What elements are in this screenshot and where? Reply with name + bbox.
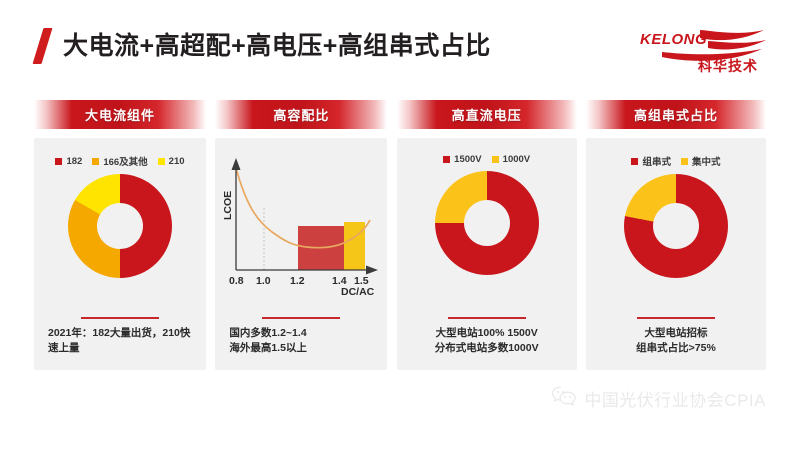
panel-ribbon-label: 高直流电压 <box>452 105 522 124</box>
panel-card: 1500V 1000V 大型电站100% 1500V 分布式电站多数1000V <box>397 138 577 370</box>
panel-ribbon: 高直流电压 <box>397 100 577 129</box>
legend-label: 1500V <box>454 154 481 165</box>
legend-item: 组串式 <box>631 154 671 168</box>
donut-chart <box>68 174 172 278</box>
panel-caption-block: 大型电站100% 1500V 分布式电站多数1000V <box>397 317 577 356</box>
page-title-text: 大电流+高超配+高电压+高组串式占比 <box>63 34 491 59</box>
panel-card: 182 166及其他 210 2021年：182大量出货，210快速上量 <box>34 138 206 370</box>
donut-chart-wrap <box>34 174 206 278</box>
legend-label: 166及其他 <box>103 154 147 168</box>
y-axis-label: LCOE <box>222 191 234 220</box>
legend-item: 166及其他 <box>92 154 147 168</box>
donut-chart <box>435 171 539 275</box>
legend-swatch-icon <box>492 156 499 163</box>
caption-divider <box>262 317 340 319</box>
legend-swatch-icon <box>55 158 62 165</box>
legend-label: 组串式 <box>642 154 671 168</box>
panel-caption: 2021年：182大量出货，210快速上量 <box>34 326 206 356</box>
legend-label: 210 <box>169 156 185 167</box>
panel-high-dc-ac-ratio[interactable]: 高容配比 LCOE <box>215 100 387 378</box>
svg-text:KELONG: KELONG <box>640 31 707 48</box>
x-tick-label: 1.0 <box>256 275 271 287</box>
legend-item: 1500V <box>443 154 481 165</box>
legend-item: 1000V <box>492 154 530 165</box>
panel-caption-block: 大型电站招标 组串式占比>75% <box>586 317 766 356</box>
legend-swatch-icon <box>92 158 99 165</box>
panel-ribbon-label: 大电流组件 <box>85 105 155 124</box>
donut-hole <box>653 203 699 249</box>
panel-ribbon: 高组串式占比 <box>586 100 766 129</box>
legend-swatch-icon <box>443 156 450 163</box>
legend-item: 182 <box>55 156 82 167</box>
panel-caption-block: 国内多数1.2~1.4 海外最高1.5以上 <box>215 317 387 356</box>
donut-chart-wrap <box>397 171 577 275</box>
panel-caption-block: 2021年：182大量出货，210快速上量 <box>34 317 206 356</box>
page-header: 大电流+高超配+高电压+高组串式占比 KELONG 科华技术 <box>0 0 800 92</box>
panel-caption-line2: 组串式占比>75% <box>592 341 760 356</box>
panel-row: 大电流组件 182 166及其他 210 <box>0 100 800 378</box>
caption-divider <box>637 317 715 319</box>
panel-caption-line1: 大型电站招标 <box>592 326 760 341</box>
legend-item: 210 <box>158 156 185 167</box>
panel-card: LCOE 0.8 1.0 1.2 1.4 1.5 DC/AC 国内多数1.2~1… <box>215 138 387 370</box>
panel-caption-line1: 大型电站100% 1500V <box>403 326 571 341</box>
svg-text:科华技术: 科华技术 <box>698 58 758 74</box>
legend-label: 1000V <box>503 154 530 165</box>
legend-item: 集中式 <box>681 154 721 168</box>
panel-caption-line2: 海外最高1.5以上 <box>229 341 381 356</box>
donut-chart <box>624 174 728 278</box>
panel-ribbon-label: 高容配比 <box>273 105 329 124</box>
legend-swatch-icon <box>631 158 638 165</box>
x-tick-label: 1.2 <box>290 275 305 287</box>
panel-caption-line1: 国内多数1.2~1.4 <box>229 326 381 341</box>
panel-high-current-module[interactable]: 大电流组件 182 166及其他 210 <box>34 100 206 378</box>
chart-legend: 182 166及其他 210 <box>34 138 206 168</box>
panel-ribbon: 高容配比 <box>215 100 387 129</box>
chart-legend: 1500V 1000V <box>397 138 577 165</box>
donut-chart-wrap <box>586 174 766 278</box>
legend-swatch-icon <box>158 158 165 165</box>
page-title: 大电流+高超配+高电压+高组串式占比 <box>38 28 491 64</box>
panel-ribbon: 大电流组件 <box>34 100 206 129</box>
chart-legend: 组串式 集中式 <box>586 138 766 168</box>
x-tick-label: 0.8 <box>229 275 244 287</box>
legend-label: 182 <box>66 156 82 167</box>
title-accent-slash-icon <box>32 28 52 64</box>
watermark: 中国光伏行业协会CPIA <box>551 385 766 412</box>
panel-caption-line2: 分布式电站多数1000V <box>403 341 571 356</box>
band-overseas <box>344 222 365 270</box>
watermark-text: 中国光伏行业协会CPIA <box>584 386 766 411</box>
x-axis-arrow-icon <box>366 266 378 275</box>
caption-divider <box>448 317 526 319</box>
caption-divider <box>81 317 159 319</box>
y-axis-arrow-icon <box>232 158 241 170</box>
legend-swatch-icon <box>681 158 688 165</box>
lcoe-line-chart: LCOE 0.8 1.0 1.2 1.4 1.5 DC/AC <box>215 148 387 298</box>
legend-label: 集中式 <box>692 154 721 168</box>
kelong-logo: KELONG 科华技术 <box>638 22 778 76</box>
panel-card: 组串式 集中式 大型电站招标 组串式占比>75% <box>586 138 766 370</box>
panel-ribbon-label: 高组串式占比 <box>634 105 718 124</box>
donut-hole <box>97 203 143 249</box>
x-axis-label: DC/AC <box>341 286 375 298</box>
panel-high-dc-voltage[interactable]: 高直流电压 1500V 1000V 大型 <box>397 100 577 378</box>
panel-high-string-inverter-share[interactable]: 高组串式占比 组串式 集中式 大型电站招 <box>586 100 766 378</box>
wechat-icon <box>551 385 577 412</box>
donut-hole <box>464 200 510 246</box>
